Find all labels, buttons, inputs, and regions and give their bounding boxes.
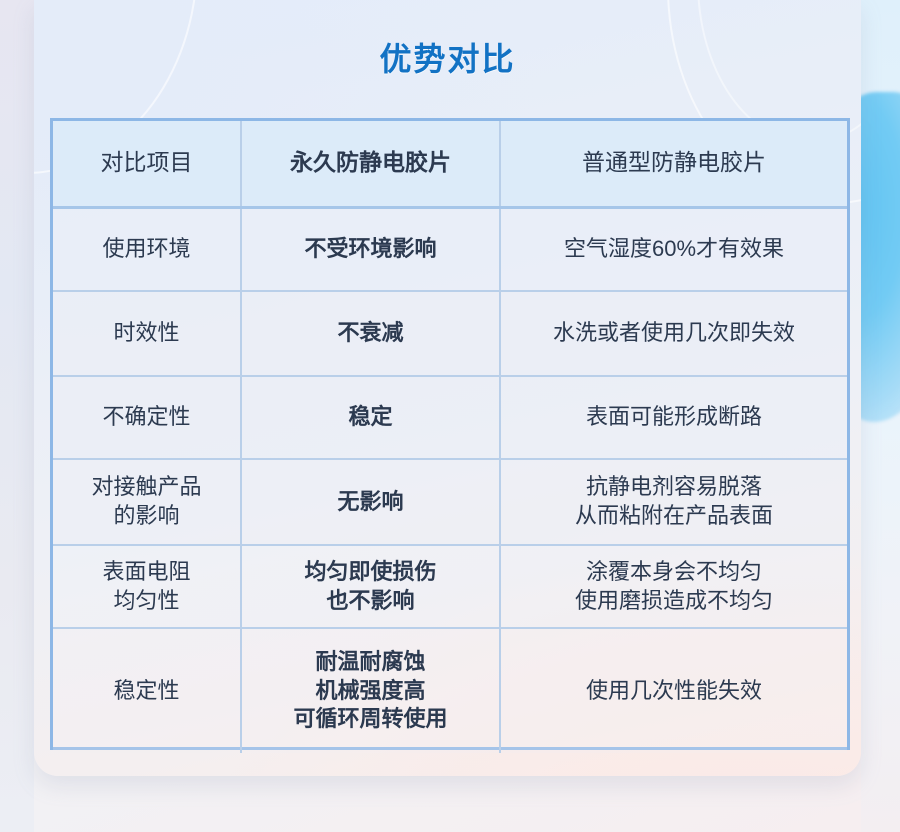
table-row: 使用环境 不受环境影响 空气湿度60%才有效果 [53, 207, 847, 291]
table-header-row: 对比项目 永久防静电胶片 普通型防静电胶片 [53, 121, 847, 207]
table-row: 时效性 不衰减 水洗或者使用几次即失效 [53, 291, 847, 376]
row-product-value: 不受环境影响 [241, 207, 500, 291]
header-cell-permanent-product: 永久防静电胶片 [241, 121, 500, 207]
row-product-value: 不衰减 [241, 291, 500, 376]
row-product-value: 无影响 [241, 459, 500, 545]
table-row: 稳定性 耐温耐腐蚀 机械强度高 可循环周转使用 使用几次性能失效 [53, 628, 847, 753]
row-ordinary-value: 空气湿度60%才有效果 [500, 207, 847, 291]
comparison-table-container: 对比项目 永久防静电胶片 普通型防静电胶片 使用环境 不受环境影响 空气湿度60… [50, 118, 850, 750]
row-ordinary-value: 抗静电剂容易脱落 从而粘附在产品表面 [500, 459, 847, 545]
row-ordinary-value: 水洗或者使用几次即失效 [500, 291, 847, 376]
right-decorative-strip [861, 0, 900, 832]
row-ordinary-value: 使用几次性能失效 [500, 628, 847, 753]
left-decorative-strip [0, 0, 34, 832]
comparison-table: 对比项目 永久防静电胶片 普通型防静电胶片 使用环境 不受环境影响 空气湿度60… [53, 121, 847, 753]
page-canvas: 优势对比 对比项目 永久防静电胶片 普通型防静电胶片 使用环境 不受环境影响 空… [0, 0, 900, 832]
row-label: 使用环境 [53, 207, 241, 291]
row-label: 时效性 [53, 291, 241, 376]
row-product-value: 耐温耐腐蚀 机械强度高 可循环周转使用 [241, 628, 500, 753]
page-title: 优势对比 [34, 34, 861, 80]
content-card: 优势对比 对比项目 永久防静电胶片 普通型防静电胶片 使用环境 不受环境影响 空… [34, 0, 861, 776]
table-row: 对接触产品 的影响 无影响 抗静电剂容易脱落 从而粘附在产品表面 [53, 459, 847, 545]
header-cell-ordinary-product: 普通型防静电胶片 [500, 121, 847, 207]
row-label: 对接触产品 的影响 [53, 459, 241, 545]
row-product-value: 稳定 [241, 376, 500, 459]
row-label: 稳定性 [53, 628, 241, 753]
row-ordinary-value: 表面可能形成断路 [500, 376, 847, 459]
table-row: 不确定性 稳定 表面可能形成断路 [53, 376, 847, 459]
row-label: 表面电阻 均匀性 [53, 545, 241, 628]
row-label: 不确定性 [53, 376, 241, 459]
header-cell-criteria: 对比项目 [53, 121, 241, 207]
row-product-value: 均匀即使损伤 也不影响 [241, 545, 500, 628]
table-row: 表面电阻 均匀性 均匀即使损伤 也不影响 涂覆本身会不均匀 使用磨损造成不均匀 [53, 545, 847, 628]
row-ordinary-value: 涂覆本身会不均匀 使用磨损造成不均匀 [500, 545, 847, 628]
